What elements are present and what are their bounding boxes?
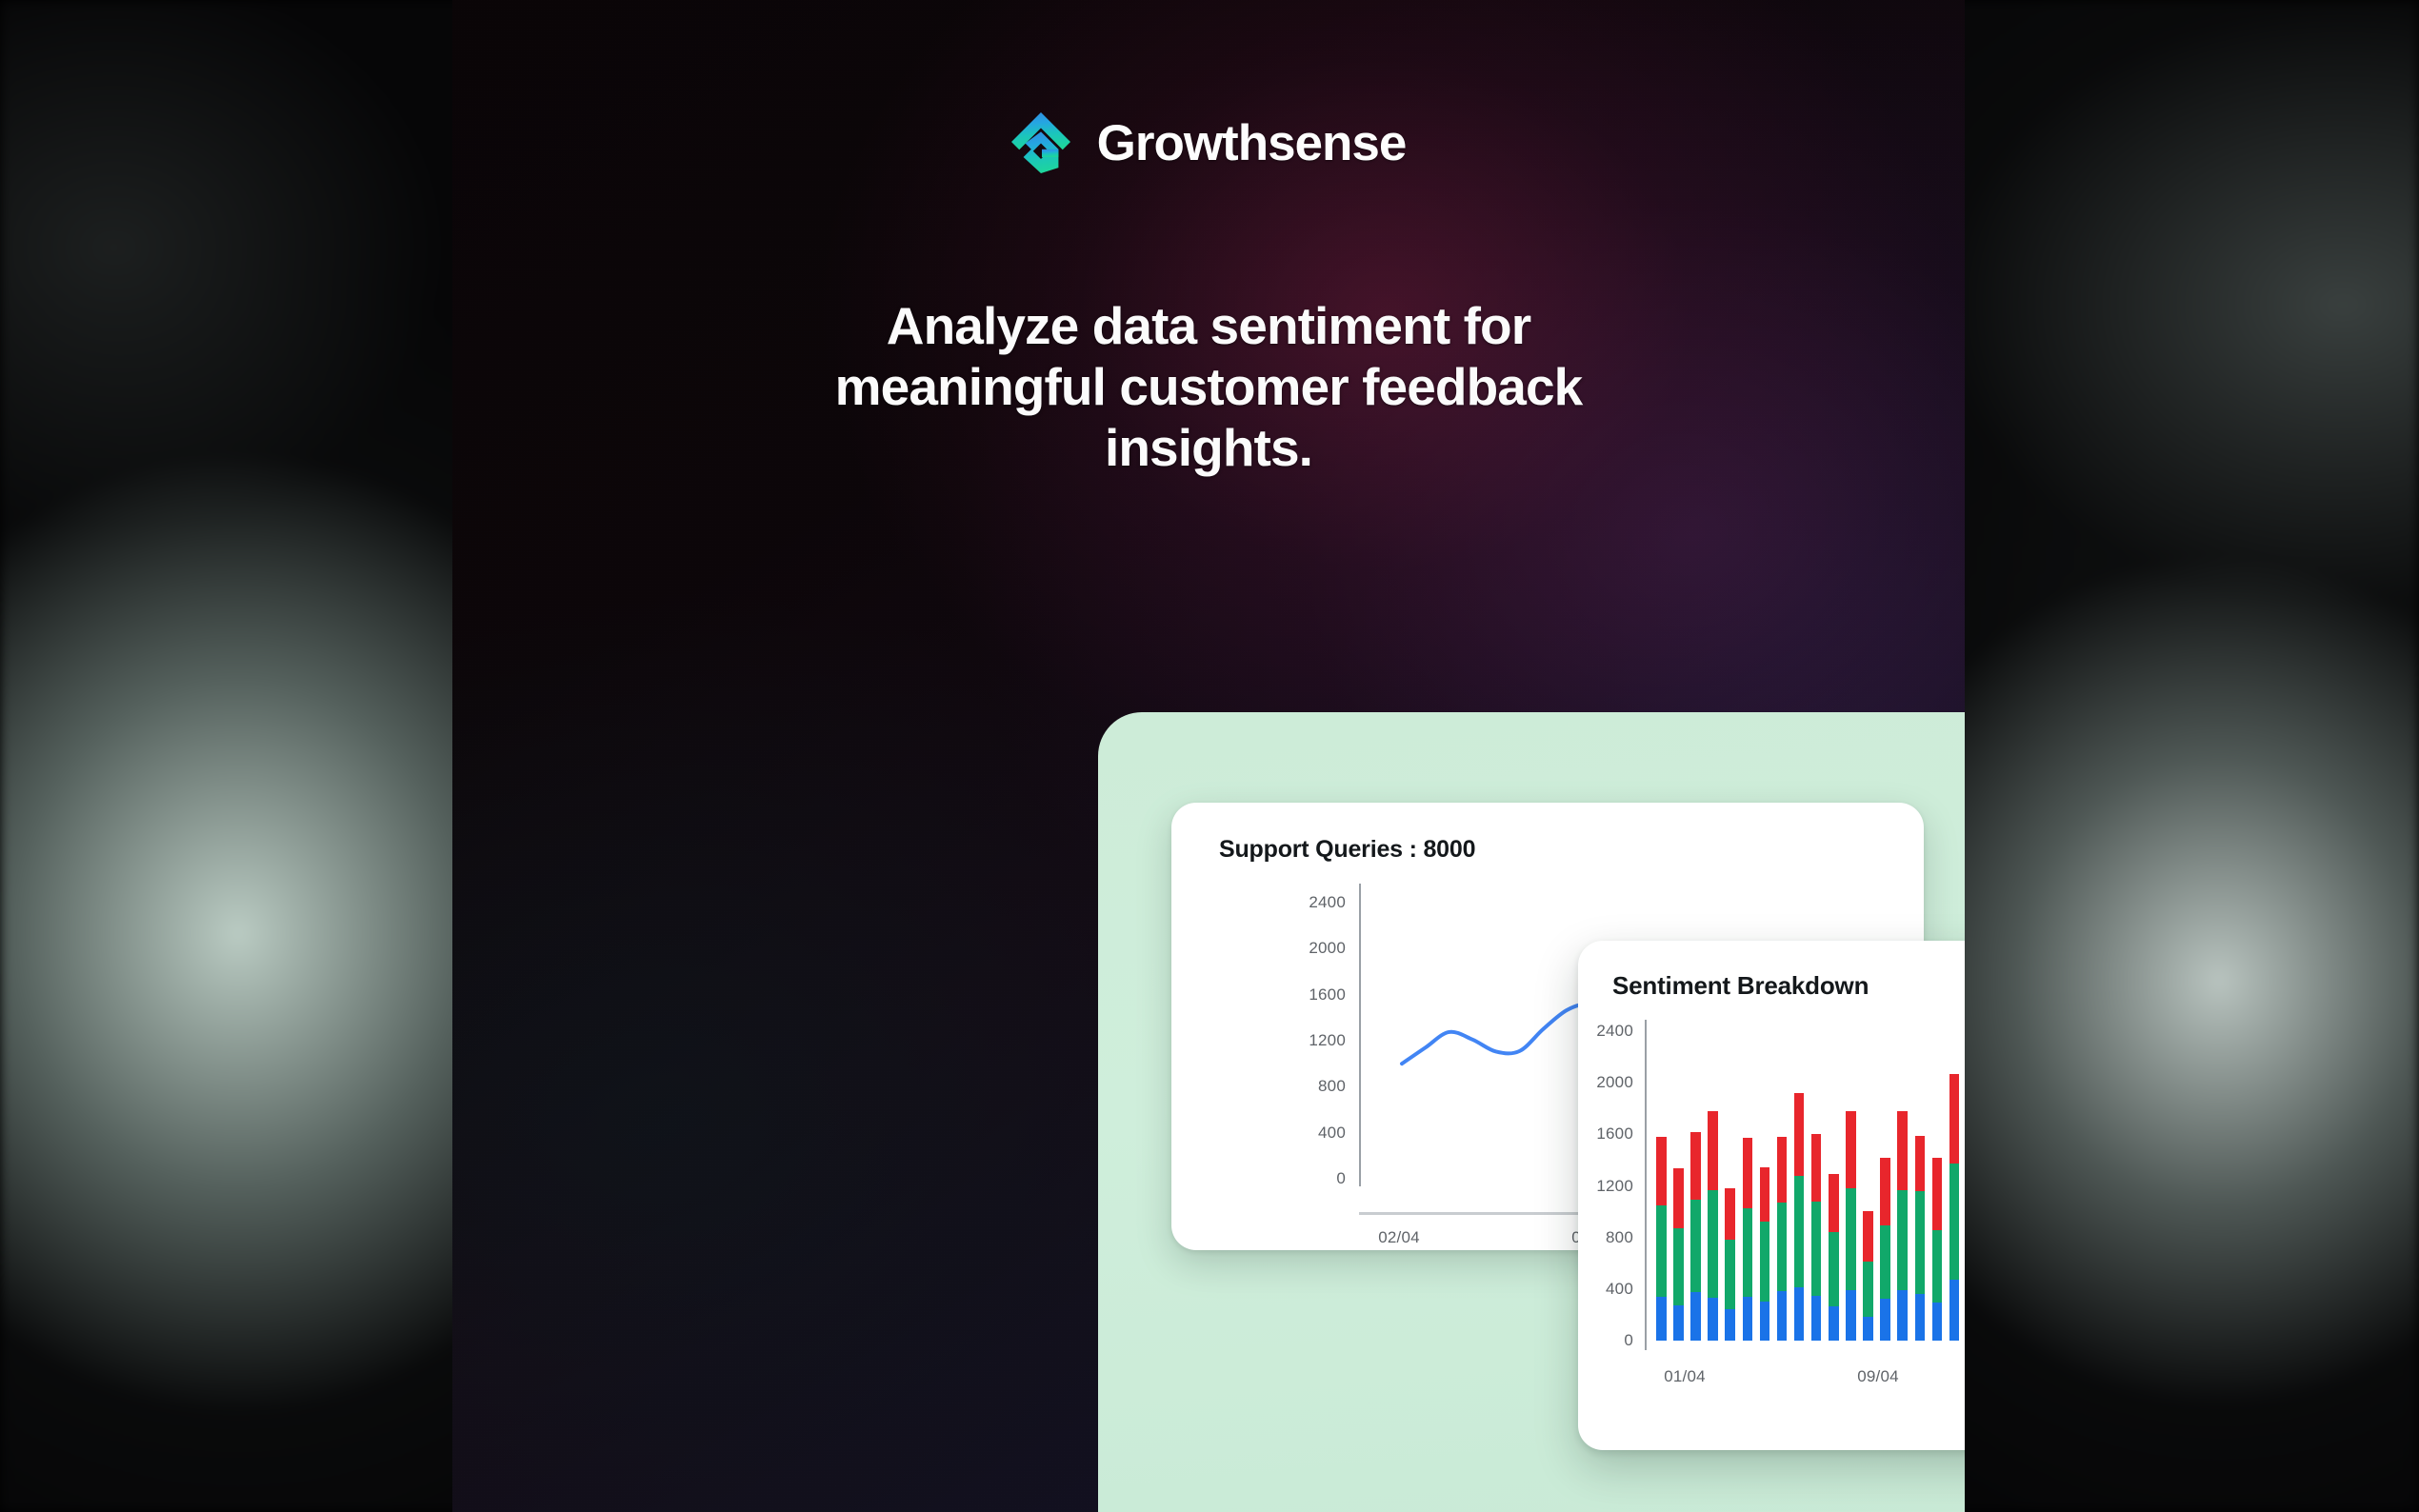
sentiment-bar-segment-neutral [1863, 1262, 1873, 1317]
sentiment-bar-segment-positive [1949, 1280, 1960, 1341]
sentiment-breakdown-bar-chart: 0400800120016002000240001/0409/0416/0423 [1578, 941, 1965, 1450]
sentiment-bar-segment-negative [1673, 1168, 1684, 1229]
bar-chart-y-tick: 2400 [1596, 1022, 1633, 1041]
headline-line-1: Analyze data sentiment for [704, 295, 1713, 356]
sentiment-bar-column [1760, 1031, 1770, 1362]
sentiment-bar-segment-neutral [1897, 1190, 1908, 1291]
sentiment-bar-segment-negative [1897, 1111, 1908, 1190]
sentiment-bar-column [1897, 1031, 1908, 1362]
sentiment-bar-segment-negative [1932, 1158, 1943, 1229]
sentiment-bar-segment-negative [1760, 1167, 1770, 1223]
sentiment-bar-column [1708, 1031, 1718, 1362]
headline-line-2: meaningful customer feedback [704, 356, 1713, 417]
sentiment-bar-segment-positive [1760, 1302, 1770, 1341]
sentiment-bar-column [1880, 1031, 1890, 1362]
sentiment-bar-segment-positive [1725, 1309, 1735, 1341]
sentiment-bar-segment-positive [1743, 1297, 1753, 1341]
sentiment-bar-segment-neutral [1949, 1164, 1960, 1281]
sentiment-bar-segment-negative [1880, 1158, 1890, 1225]
sentiment-bar-segment-positive [1811, 1296, 1822, 1341]
sentiment-bar-segment-neutral [1811, 1202, 1822, 1296]
sentiment-bar-segment-neutral [1915, 1191, 1926, 1294]
bar-chart-y-axis [1645, 1020, 1647, 1350]
sentiment-bar-column [1829, 1031, 1839, 1362]
bar-chart-y-tick: 1600 [1596, 1124, 1633, 1144]
sentiment-bar-segment-positive [1880, 1299, 1890, 1341]
page-title: Analyze data sentiment for meaningful cu… [704, 295, 1713, 478]
sentiment-bar-segment-positive [1777, 1291, 1788, 1341]
growthsense-diamond-logo-icon [1011, 112, 1070, 173]
sentiment-bar-segment-positive [1794, 1287, 1805, 1341]
sentiment-bar-segment-negative [1915, 1136, 1926, 1191]
sentiment-breakdown-card[interactable]: Sentiment Breakdown 04008001200160020002… [1578, 941, 1965, 1450]
sentiment-bar-column [1846, 1031, 1856, 1362]
sentiment-bar-column [1932, 1031, 1943, 1362]
sentiment-bar-segment-negative [1829, 1174, 1839, 1232]
sentiment-bar-column [1811, 1031, 1822, 1362]
sentiment-bar-segment-positive [1897, 1290, 1908, 1341]
sentiment-bar-column [1725, 1031, 1735, 1362]
sentiment-bar-segment-neutral [1846, 1188, 1856, 1290]
sentiment-bar-column [1777, 1031, 1788, 1362]
sentiment-bar-column [1656, 1031, 1667, 1362]
sentiment-bar-segment-negative [1846, 1111, 1856, 1188]
sentiment-bar-segment-negative [1656, 1137, 1667, 1205]
sentiment-bar-segment-neutral [1777, 1203, 1788, 1291]
sentiment-bar-segment-positive [1656, 1297, 1667, 1341]
sentiment-bar-segment-neutral [1725, 1240, 1735, 1309]
sentiment-bar-segment-negative [1794, 1093, 1805, 1176]
sentiment-bar-segment-neutral [1690, 1200, 1701, 1293]
sentiment-bar-segment-negative [1949, 1074, 1960, 1164]
sentiment-bar-segment-positive [1932, 1303, 1943, 1341]
bar-chart-y-tick: 400 [1606, 1280, 1633, 1299]
sentiment-bar-segment-positive [1673, 1305, 1684, 1341]
sentiment-bar-column [1673, 1031, 1684, 1362]
sentiment-bar-segment-neutral [1708, 1190, 1718, 1299]
screenshot-root: Growthsense Analyze data sentiment for m… [0, 0, 2419, 1512]
sentiment-bar-segment-neutral [1656, 1205, 1667, 1297]
sentiment-bar-segment-negative [1690, 1132, 1701, 1199]
sentiment-bar-column [1863, 1031, 1873, 1362]
sentiment-bar-segment-neutral [1760, 1222, 1770, 1302]
hero-panel: Growthsense Analyze data sentiment for m… [452, 0, 1965, 1512]
sentiment-bar-segment-negative [1725, 1188, 1735, 1240]
brand-name: Growthsense [1097, 118, 1407, 169]
sentiment-bar-segment-negative [1811, 1134, 1822, 1202]
bar-chart-x-tick: 01/04 [1664, 1367, 1706, 1386]
sentiment-bar-segment-positive [1863, 1317, 1873, 1341]
sentiment-bar-segment-neutral [1829, 1232, 1839, 1306]
sentiment-bar-segment-positive [1708, 1298, 1718, 1341]
sentiment-bar-segment-positive [1690, 1292, 1701, 1341]
sentiment-bar-segment-positive [1915, 1294, 1926, 1341]
brand-lockup[interactable]: Growthsense [452, 112, 1965, 173]
sentiment-bar-column [1794, 1031, 1805, 1362]
sentiment-bar-segment-neutral [1932, 1230, 1943, 1303]
sentiment-bar-column [1915, 1031, 1926, 1362]
bar-chart-y-tick: 800 [1606, 1228, 1633, 1247]
sentiment-bar-column [1949, 1031, 1960, 1362]
sentiment-bar-segment-negative [1777, 1137, 1788, 1203]
bar-chart-y-tick: 0 [1624, 1331, 1633, 1350]
sentiment-bar-segment-neutral [1743, 1208, 1753, 1297]
sentiment-bar-segment-neutral [1794, 1176, 1805, 1286]
bar-chart-y-tick: 2000 [1596, 1073, 1633, 1092]
sentiment-bar-column [1690, 1031, 1701, 1362]
bar-chart-x-tick: 09/04 [1857, 1367, 1899, 1386]
sentiment-bar-column [1743, 1031, 1753, 1362]
sentiment-bar-segment-neutral [1880, 1225, 1890, 1299]
sentiment-bar-segment-positive [1846, 1290, 1856, 1341]
sentiment-bar-segment-neutral [1673, 1228, 1684, 1305]
headline-line-3: insights. [704, 417, 1713, 478]
sentiment-bar-segment-positive [1829, 1306, 1839, 1341]
sentiment-bar-segment-negative [1708, 1111, 1718, 1190]
sentiment-bar-segment-negative [1863, 1211, 1873, 1262]
bar-chart-y-tick: 1200 [1596, 1177, 1633, 1196]
sentiment-bar-segment-negative [1743, 1138, 1753, 1208]
